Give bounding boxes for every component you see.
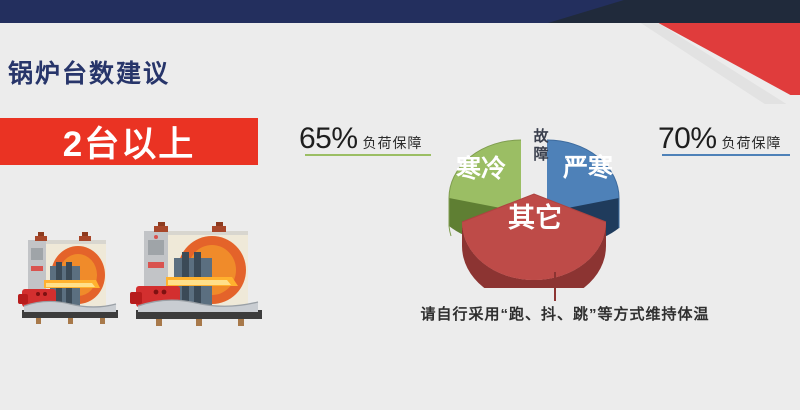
red-banner-label: 2台以上 bbox=[0, 118, 258, 165]
caption-leader-line bbox=[554, 272, 556, 301]
callout-left-text: 负荷保障 bbox=[363, 133, 423, 153]
callout-left-percent: 65% bbox=[299, 122, 358, 156]
bottom-caption: 请自行采用“跑、抖、跳”等方式维持体温 bbox=[390, 303, 740, 324]
infographic-canvas: 锅炉台数建议 2台以上 bbox=[0, 0, 800, 410]
callout-left-leader-line bbox=[305, 154, 431, 156]
callout-right-percent: 70% bbox=[658, 122, 717, 156]
pie-label-severe-cold: 严寒 bbox=[563, 153, 613, 182]
pie-gap-label-fault: 故障 bbox=[530, 128, 552, 164]
boiler-cutaway-large-icon bbox=[128, 222, 268, 327]
section-title: 锅炉台数建议 bbox=[8, 54, 170, 90]
callout-right-leader-line bbox=[662, 154, 790, 156]
callout-left: 65% 负荷保障 bbox=[299, 122, 423, 156]
callout-right-text: 负荷保障 bbox=[722, 133, 782, 153]
pie-label-cold: 寒冷 bbox=[456, 154, 506, 183]
boiler-cutaway-small-icon bbox=[16, 232, 124, 324]
callout-right: 70% 负荷保障 bbox=[658, 122, 782, 156]
pie-label-other: 其它 bbox=[508, 202, 562, 233]
